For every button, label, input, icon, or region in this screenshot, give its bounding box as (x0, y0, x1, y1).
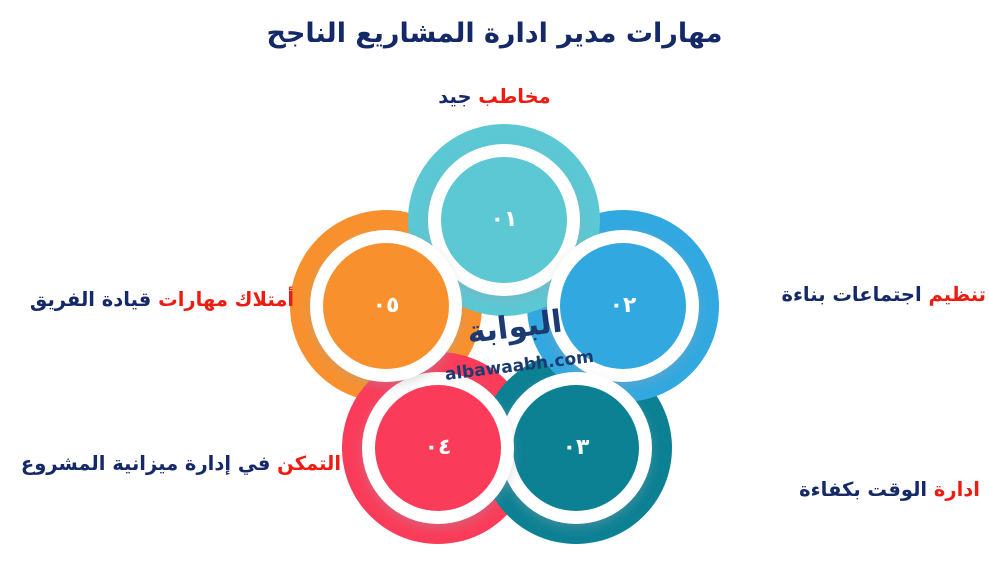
petal-label-3: ادارة الوقت بكفاءة (668, 476, 980, 504)
petal-label-1-prefix: مخاطب (478, 85, 550, 108)
petal-inner-1 (441, 157, 567, 283)
petal-label-2-prefix: تنظيم (928, 283, 986, 306)
petal-label-4-rest: في إدارة ميزانية المشروع (21, 452, 270, 475)
petal-label-5: أمتلاك مهارات قيادة الفريق (4, 286, 320, 314)
petal-inner-circles (310, 144, 699, 524)
petal-inner-5 (323, 243, 449, 369)
infographic-canvas: مهارات مدير ادارة المشاريع الناجح (0, 0, 989, 562)
petal-inner-4 (375, 385, 501, 511)
petal-inner-3 (513, 385, 639, 511)
petal-label-3-rest: الوقت بكفاءة (799, 478, 927, 501)
petal-label-1: مخاطب جيد (0, 83, 989, 111)
petal-label-4: التمكن في إدارة ميزانية المشروع (10, 450, 352, 478)
petal-label-5-rest: قيادة الفريق (30, 288, 151, 311)
petal-inner-2 (560, 243, 686, 369)
petal-label-5-prefix: أمتلاك مهارات (158, 288, 294, 311)
petal-label-4-prefix: التمكن (277, 452, 341, 475)
petal-diagram: ٠١ ٠٢ ٠٣ ٠٤ ٠٥ (288, 128, 718, 548)
petal-label-2-rest: اجتماعات بناءة (781, 283, 921, 306)
page-title: مهارات مدير ادارة المشاريع الناجح (0, 18, 989, 49)
petal-label-1-rest: جيد (438, 85, 471, 108)
petal-label-3-prefix: ادارة (934, 478, 980, 501)
petal-label-2: تنظيم اجتماعات بناءة (724, 281, 986, 309)
